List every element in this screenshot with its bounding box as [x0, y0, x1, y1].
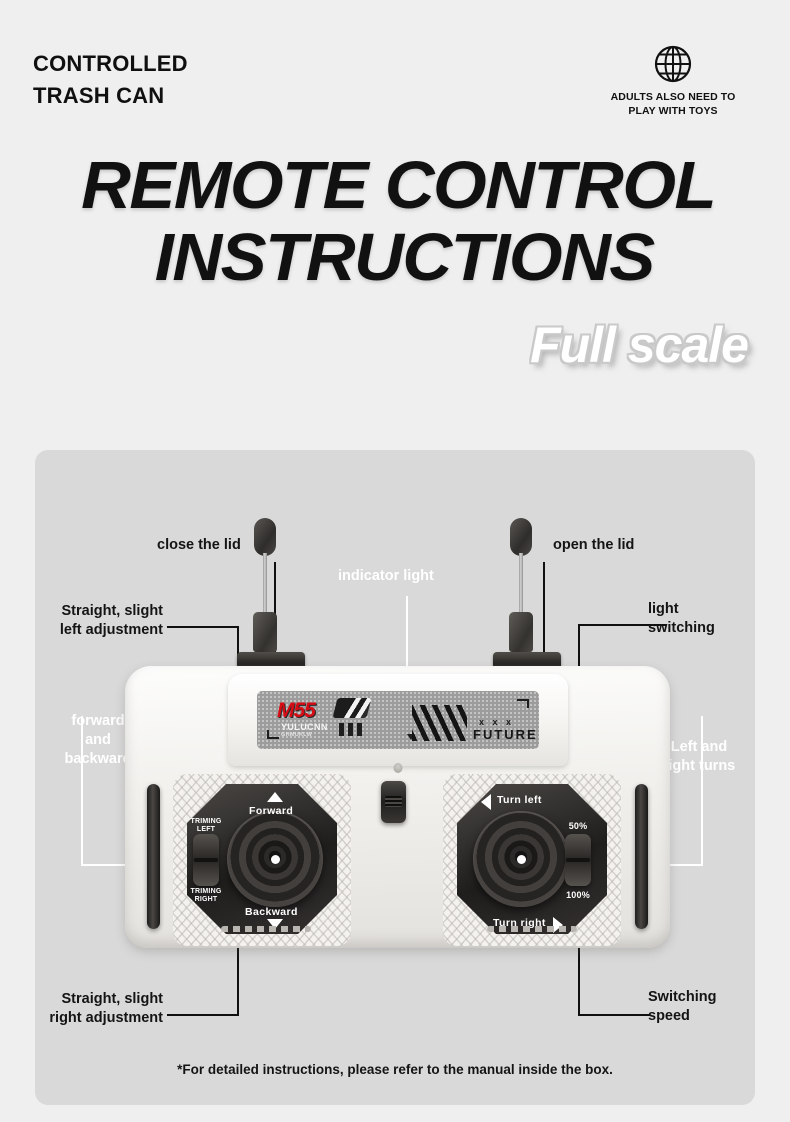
- sticker-logo: M55: [277, 699, 315, 723]
- globe-icon: [653, 44, 693, 84]
- sticker-future: FUTURE: [473, 727, 538, 742]
- antenna-right-tip: [510, 518, 532, 556]
- infographic-page: CONTROLLED TRASH CAN ADULTS ALSO NEED TO…: [0, 0, 790, 1122]
- grip-handle-right: [635, 784, 648, 929]
- speed-switch[interactable]: [565, 834, 591, 886]
- sticker-corner-bracket-right: [517, 699, 529, 708]
- callout-switching-speed-line-1: Switching: [648, 988, 716, 1007]
- callout-trim-right-line-2: right adjustment: [35, 1009, 163, 1028]
- antenna-left-rod: [263, 553, 267, 615]
- leader-switching-speed-h: [578, 1014, 650, 1016]
- label-speed-full: 100%: [553, 890, 603, 900]
- callout-indicator-light: indicator light: [338, 567, 434, 586]
- footnote: *For detailed instructions, please refer…: [35, 1062, 755, 1077]
- label-forward: Forward: [249, 805, 293, 817]
- label-speed-half: 50%: [553, 821, 603, 831]
- vent-left: [221, 926, 311, 932]
- label-backward: Backward: [245, 906, 298, 918]
- label-trim-right: TRIMING RIGHT: [181, 888, 231, 904]
- sticker-brand-sub: GHMUKLW: [281, 732, 312, 738]
- leader-trim-right-h: [167, 1014, 239, 1016]
- left-joystick-hub: [271, 855, 280, 864]
- tiger-graphic-icon: [333, 698, 372, 718]
- remote-controller: M55 YULUCNN GHMUKLW x x x FUTURE: [125, 648, 670, 948]
- label-turn-left: Turn left: [497, 794, 542, 806]
- callout-light-switching-line-1: light: [648, 600, 715, 619]
- right-joystick-hub: [517, 855, 526, 864]
- callout-trim-right: Straight, slight right adjustment: [35, 990, 163, 1028]
- callout-trim-left-line-1: Straight, slight: [35, 602, 163, 621]
- power-toggle-switch[interactable]: [381, 781, 406, 823]
- callout-trim-left-line-2: left adjustment: [35, 621, 163, 640]
- product-kicker: CONTROLLED TRASH CAN: [33, 48, 188, 112]
- leader-trim-left-h: [167, 626, 239, 628]
- title-line-1: REMOTE CONTROL: [0, 150, 790, 222]
- forward-arrow-icon: [267, 792, 283, 802]
- sticker-stripes-icon: [412, 705, 467, 741]
- sticker-bars-icon: [339, 723, 362, 736]
- sticker-corner-bracket-left: [267, 730, 279, 739]
- antenna-right-rod: [519, 553, 523, 615]
- globe-badge: ADULTS ALSO NEED TO PLAY WITH TOYS: [588, 44, 758, 118]
- title-script: Full scale: [0, 316, 790, 374]
- callout-switching-speed-line-2: speed: [648, 1007, 716, 1026]
- grip-handle-left: [147, 784, 160, 929]
- callout-close-lid: close the lid: [157, 536, 241, 555]
- sticker-brand: YULUCNN: [281, 722, 328, 732]
- antenna-left-base: [253, 612, 277, 652]
- kicker-line-1: CONTROLLED: [33, 48, 188, 80]
- remote-body: M55 YULUCNN GHMUKLW x x x FUTURE: [125, 666, 670, 948]
- trim-switch-left-right[interactable]: [193, 834, 219, 886]
- callout-switching-speed: Switching speed: [648, 988, 716, 1026]
- callout-trim-left: Straight, slight left adjustment: [35, 602, 163, 640]
- label-trim-left: TRIMING LEFT: [181, 818, 231, 834]
- callout-light-switching-line-2: switching: [648, 619, 715, 638]
- brand-sticker: M55 YULUCNN GHMUKLW x x x FUTURE: [257, 691, 539, 749]
- page-title: REMOTE CONTROL INSTRUCTIONS Full scale: [0, 150, 790, 374]
- antenna-right-base: [509, 612, 533, 652]
- globe-caption-line-1: ADULTS ALSO NEED TO: [588, 90, 758, 104]
- globe-caption-line-2: PLAY WITH TOYS: [588, 104, 758, 118]
- turn-left-arrow-icon: [481, 794, 491, 810]
- antenna-left-tip: [254, 518, 276, 556]
- vent-right: [487, 926, 577, 932]
- diagram-panel: close the lid indicator light open the l…: [35, 450, 755, 1105]
- globe-caption: ADULTS ALSO NEED TO PLAY WITH TOYS: [588, 90, 758, 118]
- title-line-2: INSTRUCTIONS: [0, 222, 790, 294]
- callout-open-lid: open the lid: [553, 536, 634, 555]
- callout-light-switching: light switching: [648, 600, 715, 638]
- sticker-xxx: x x x: [479, 717, 514, 727]
- callout-trim-right-line-1: Straight, slight: [35, 990, 163, 1009]
- kicker-line-2: TRASH CAN: [33, 80, 188, 112]
